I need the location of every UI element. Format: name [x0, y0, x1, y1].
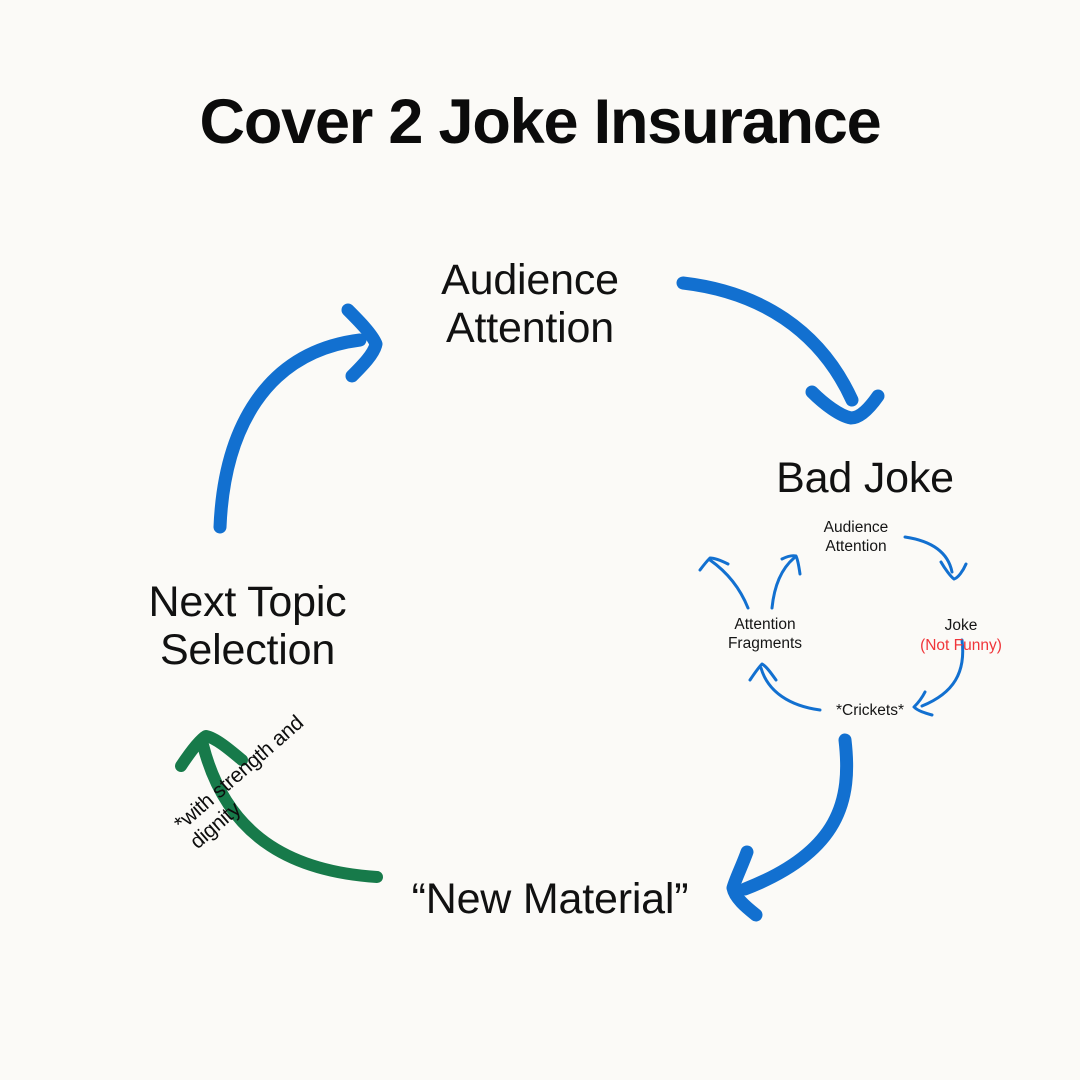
node-audience-attention: Audience Attention [390, 256, 670, 352]
arrow-audience-to-badjoke [683, 283, 878, 418]
annotation-with-strength-and-dignity: *with strength and dignity [170, 706, 330, 854]
node-new-material: “New Material” [395, 875, 705, 923]
inner-arrow-crickets-to-fragments [750, 664, 820, 710]
inner-node-crickets: *Crickets* [822, 701, 918, 720]
node-bad-joke: Bad Joke [735, 454, 995, 502]
page-title: Cover 2 Joke Insurance [0, 86, 1080, 158]
node-next-topic-selection: Next Topic Selection [105, 578, 390, 674]
arrow-nexttopic-to-audience [220, 310, 376, 527]
inner-node-joke-sublabel: (Not Funny) [915, 636, 1007, 655]
inner-arrow-fragments-split-left [700, 558, 748, 608]
inner-node-joke: Joke (Not Funny) [915, 597, 1007, 675]
inner-arrow-audience-to-joke [905, 537, 966, 579]
diagram-canvas: Cover 2 Joke Insurance [0, 0, 1080, 1080]
inner-node-joke-label: Joke [945, 617, 978, 634]
inner-node-audience-attention: Audience Attention [806, 518, 906, 557]
arrow-crickets-to-newmaterial [733, 740, 847, 915]
inner-arrow-fragments-split-right [772, 556, 800, 608]
inner-node-attention-fragments: Attention Fragments [712, 615, 818, 654]
